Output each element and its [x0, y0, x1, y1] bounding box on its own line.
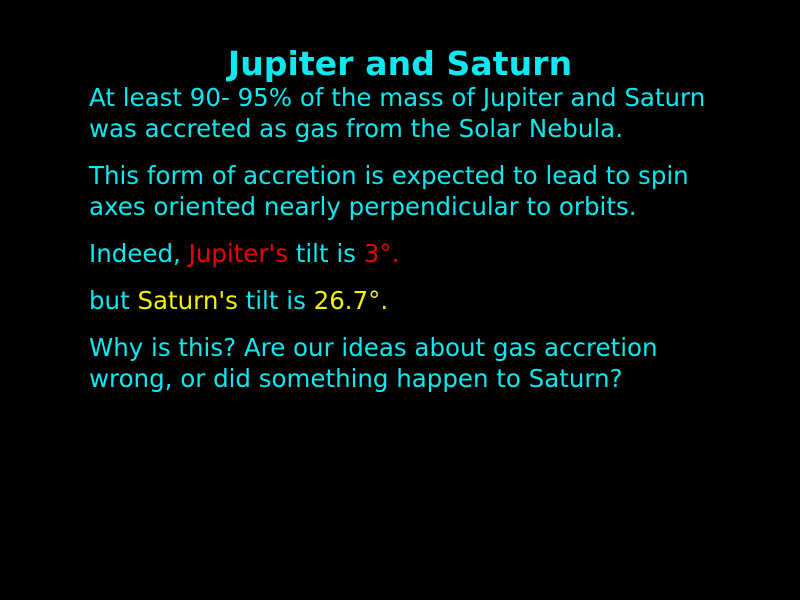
slide-body: At least 90- 95% of the mass of Jupiter … [89, 82, 739, 394]
text-run-cyan: tilt is [238, 286, 314, 315]
slide-title: Jupiter and Saturn [0, 44, 800, 84]
text-run-cyan: At least 90- 95% of the mass of Jupiter … [89, 83, 705, 143]
text-run-cyan: but [89, 286, 137, 315]
presentation-slide: Jupiter and Saturn At least 90- 95% of t… [0, 0, 800, 600]
text-run-red: Jupiter's [189, 239, 288, 268]
text-run-cyan: Why is this? Are our ideas about gas acc… [89, 333, 658, 393]
text-run-red: 3°. [364, 239, 400, 268]
text-run-yellow: 26.7°. [314, 286, 389, 315]
text-run-cyan: This form of accretion is expected to le… [89, 161, 689, 221]
body-paragraph: At least 90- 95% of the mass of Jupiter … [89, 82, 739, 144]
body-paragraph: This form of accretion is expected to le… [89, 160, 739, 222]
text-run-cyan: tilt is [288, 239, 364, 268]
body-paragraph: but Saturn's tilt is 26.7°. [89, 285, 739, 316]
text-run-cyan: Indeed, [89, 239, 189, 268]
text-run-yellow: Saturn's [137, 286, 237, 315]
body-paragraph: Why is this? Are our ideas about gas acc… [89, 332, 739, 394]
body-paragraph: Indeed, Jupiter's tilt is 3°. [89, 238, 739, 269]
